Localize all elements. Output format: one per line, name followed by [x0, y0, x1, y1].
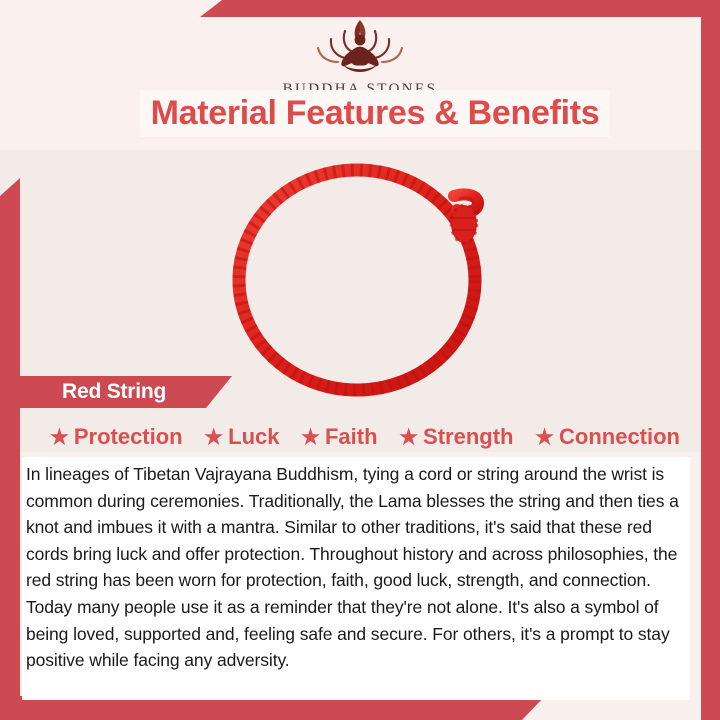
- keyword-protection: ★ Protection: [50, 424, 183, 450]
- keyword-strength: ★ Strength: [399, 424, 513, 450]
- infographic-page: BUDDHA STONES Material Features & Benefi…: [0, 0, 720, 720]
- star-icon: ★: [535, 427, 554, 448]
- star-icon: ★: [399, 427, 418, 448]
- page-title: Material Features & Benefits: [151, 94, 600, 133]
- frame-bar-left: [0, 178, 20, 720]
- star-icon: ★: [204, 427, 223, 448]
- keyword-label: Connection: [559, 424, 680, 450]
- keyword-luck: ★ Luck: [204, 424, 279, 450]
- description-panel: In lineages of Tibetan Vajrayana Buddhis…: [22, 457, 690, 700]
- section-tag-label: Red String: [62, 380, 166, 404]
- keyword-label: Faith: [325, 424, 378, 450]
- keyword-label: Strength: [423, 424, 513, 450]
- lotus-meditation-icon: [0, 14, 720, 79]
- frame-bar-right: [701, 17, 720, 720]
- description-text: In lineages of Tibetan Vajrayana Buddhis…: [26, 461, 680, 674]
- keyword-faith: ★ Faith: [301, 424, 377, 450]
- keyword-label: Protection: [74, 424, 183, 450]
- star-icon: ★: [50, 427, 69, 448]
- section-tag-red-string: Red String: [0, 376, 232, 408]
- brand-logo: BUDDHA STONES: [0, 14, 720, 98]
- keyword-connection: ★ Connection: [535, 424, 680, 450]
- star-icon: ★: [301, 427, 320, 448]
- keyword-label: Luck: [228, 424, 279, 450]
- headline-banner: Material Features & Benefits: [140, 90, 610, 137]
- product-photo-red-string-bracelet: [218, 152, 508, 400]
- benefit-keyword-row: ★ Protection ★ Luck ★ Faith ★ Strength ★…: [50, 421, 680, 453]
